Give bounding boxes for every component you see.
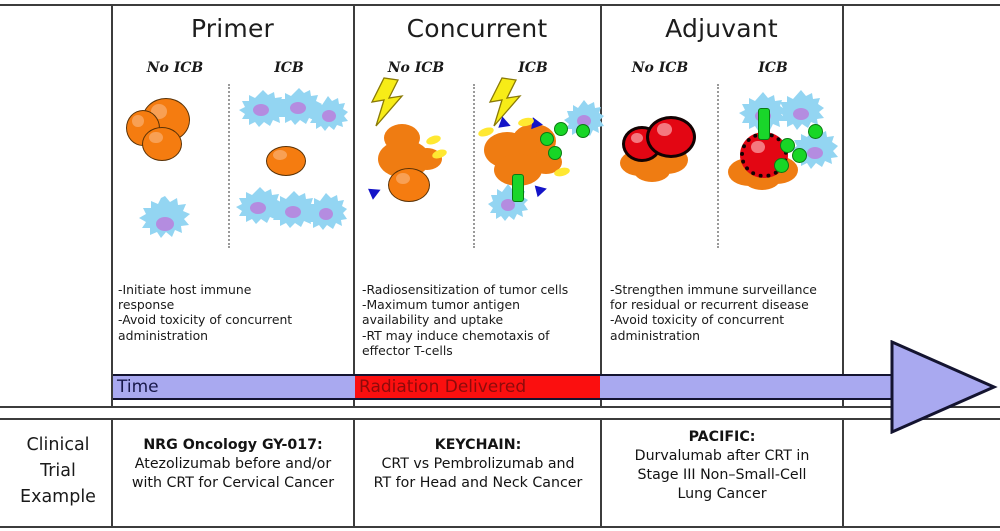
checkpoint-marker-icon [576,124,590,138]
primer-no-icb-label: No ICB [120,60,230,76]
checkpoint-marker-icon [792,148,807,163]
concurrent-panel-separator [473,84,475,248]
tumor-cell-icon [634,160,670,182]
checkpoint-marker-icon [540,132,554,146]
tumor-cell-icon [266,146,306,176]
immune-cell-icon [134,194,196,246]
clinical-trial-row-label: Clinical Trial Example [6,432,110,510]
antigen-marker-icon [425,134,442,146]
concurrent-rationale-text: -Radiosensitization of tumor cells -Maxi… [362,282,600,358]
adjuvant-icb-label: ICB [718,60,828,76]
adjuvant-icb-artwork [722,84,842,248]
column-divider-primer-concurrent [353,4,355,406]
ct-divider-label [111,418,113,526]
concurrent-no-icb-label: No ICB [362,60,470,76]
adjuvant-no-icb-artwork [608,84,718,248]
concurrent-icb-label: ICB [478,60,588,76]
trial-description-primer: Atezolizumab before and/or with CRT for … [116,455,350,493]
frame-row1-bottom-line [0,406,1000,408]
checkpoint-bar-icon [758,108,770,140]
trial-name-primer: NRG Oncology GY-017: [116,436,350,455]
primer-icb-artwork [234,84,350,248]
ct-divider-adjuvant-end [842,418,844,526]
t-cell-receptor-icon [368,184,383,199]
column-divider-concurrent-adjuvant [600,4,602,406]
adjuvant-rationale-text: -Strengthen immune surveillance for resi… [610,282,844,343]
sequencing-figure: Primer Concurrent Adjuvant No ICB ICB No… [0,0,1000,531]
checkpoint-bar-icon [512,174,524,202]
immune-cell-icon [300,190,352,236]
trial-name-adjuvant: PACIFIC: [604,428,840,447]
timeline-time-label: Time [113,379,159,396]
clinical-trial-cell-concurrent: KEYCHAIN: CRT vs Pembrolizumab and RT fo… [358,436,598,493]
primer-panel-separator [228,84,230,248]
timeline-segment-radiation: Radiation Delivered [355,374,600,400]
phase-title-concurrent: Concurrent [354,16,600,41]
frame-row2-top-line [0,418,1000,420]
primer-no-icb-artwork [112,84,228,248]
timeline-segment-time: Time [113,374,355,400]
ct-divider-primer-concurrent [353,418,355,526]
adjuvant-no-icb-label: No ICB [608,60,712,76]
frame-top-line [0,4,1000,6]
phase-title-primer: Primer [112,16,353,41]
trial-description-adjuvant: Durvalumab after CRT in Stage III Non–Sm… [604,447,840,504]
tumor-cell-icon [142,127,182,161]
clinical-trial-cell-primer: NRG Oncology GY-017: Atezolizumab before… [116,436,350,493]
phase-title-adjuvant: Adjuvant [601,16,842,41]
ct-divider-concurrent-adjuvant [600,418,602,526]
tumor-cell-icon [388,168,430,202]
concurrent-icb-artwork [478,84,600,248]
immune-cell-icon [304,94,352,136]
checkpoint-marker-icon [554,122,568,136]
primer-rationale-text: -Initiate host immune response -Avoid to… [118,282,350,343]
primer-icb-label: ICB [234,60,344,76]
clinical-trial-row-label-line1: Clinical [6,432,110,458]
checkpoint-marker-icon [774,158,789,173]
clinical-trial-cell-adjuvant: PACIFIC: Durvalumab after CRT in Stage I… [604,428,840,504]
checkpoint-marker-icon [548,146,562,160]
trial-name-concurrent: KEYCHAIN: [358,436,598,455]
checkpoint-marker-icon [808,124,823,139]
timeline-radiation-label: Radiation Delivered [355,379,526,396]
column-divider-adjuvant-end [842,4,844,406]
resistant-tumor-cell-icon [646,116,696,158]
trial-description-concurrent: CRT vs Pembrolizumab and RT for Head and… [358,455,598,493]
t-cell-receptor-icon [535,183,549,197]
clinical-trial-row-label-line3: Example [6,484,110,510]
frame-bottom-line [0,526,1000,528]
concurrent-no-icb-artwork [356,84,472,248]
clinical-trial-row-label-line2: Trial [6,458,110,484]
timeline-segment-post [600,374,898,400]
immune-cell-icon [484,182,532,228]
